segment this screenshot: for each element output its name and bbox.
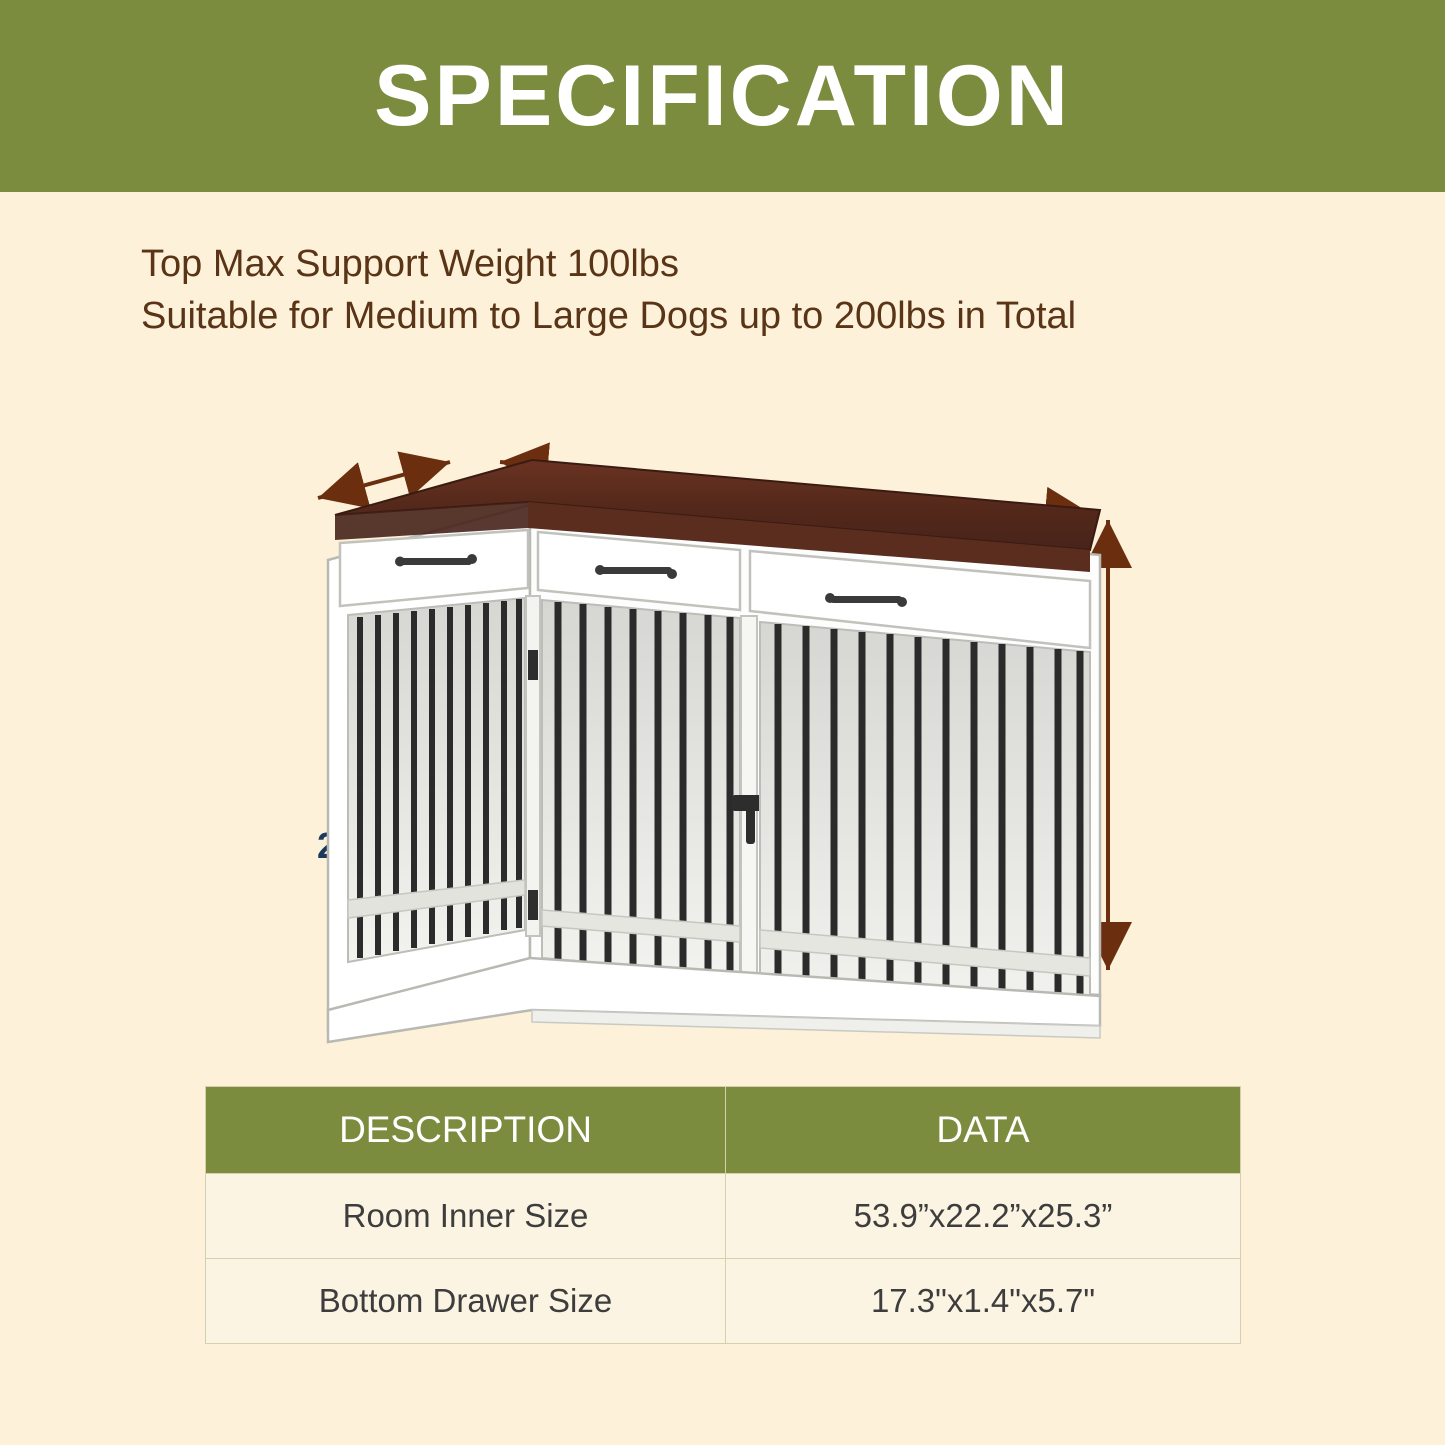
bar-panel-left <box>348 598 525 962</box>
table-row: Room Inner Size 53.9”x22.2”x25.3” <box>206 1174 1241 1259</box>
table-header-description: DESCRIPTION <box>206 1087 726 1174</box>
table-row: Bottom Drawer Size 17.3"x1.4"x5.7" <box>206 1259 1241 1344</box>
row-description-bottom-drawer-size: Bottom Drawer Size <box>206 1259 726 1344</box>
row-data-bottom-drawer-size: 17.3"x1.4"x5.7" <box>726 1259 1241 1344</box>
table-header-row: DESCRIPTION DATA <box>206 1087 1241 1174</box>
bar-panel-right <box>760 622 1090 1010</box>
bar-door-middle[interactable] <box>542 600 740 975</box>
header-banner: SPECIFICATION <box>0 0 1445 192</box>
subtitle-line-2: Suitable for Medium to Large Dogs up to … <box>141 290 1341 342</box>
subtitle-line-1: Top Max Support Weight 100lbs <box>141 238 1341 290</box>
specification-table: DESCRIPTION DATA Room Inner Size 53.9”x2… <box>205 1086 1241 1344</box>
row-data-room-inner-size: 53.9”x22.2”x25.3” <box>726 1174 1241 1259</box>
product-illustration: 55.3" 23.6" 35.4" <box>300 410 1130 1050</box>
page-title: SPECIFICATION <box>374 53 1071 139</box>
subtitle-block: Top Max Support Weight 100lbs Suitable f… <box>141 238 1341 342</box>
row-description-room-inner-size: Room Inner Size <box>206 1174 726 1259</box>
crate-drawing <box>300 410 1200 1090</box>
cabinet-body <box>328 460 1100 1042</box>
table-header-data: DATA <box>726 1087 1241 1174</box>
